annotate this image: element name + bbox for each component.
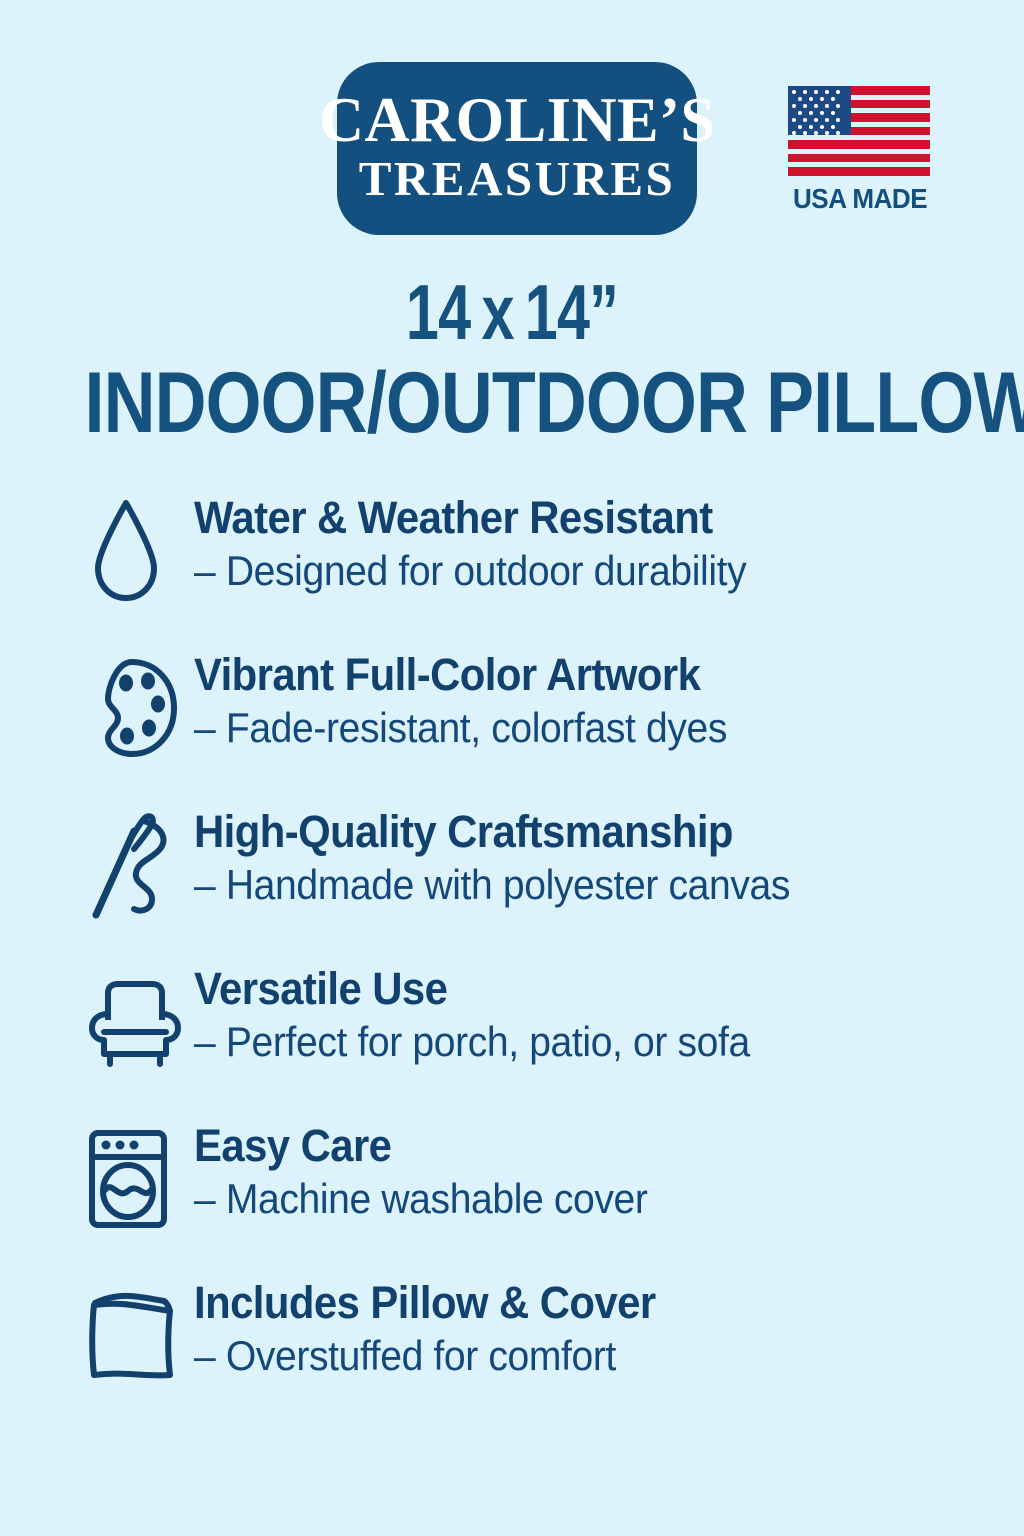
feature-title: Includes Pillow & Cover bbox=[194, 1279, 656, 1326]
armchair-icon bbox=[86, 963, 186, 1075]
feature-text: Vibrant Full-Color Artwork – Fade-resist… bbox=[186, 649, 767, 751]
brand-logo-badge: CAROLINE’S TREASURES bbox=[337, 62, 697, 235]
header: CAROLINE’S TREASURES bbox=[0, 62, 1024, 237]
list-item: High-Quality Craftsmanship – Handmade wi… bbox=[86, 806, 1016, 963]
list-item: Easy Care – Machine washable cover bbox=[86, 1120, 1016, 1277]
brand-name-line2: TREASURES bbox=[359, 151, 676, 207]
feature-title: High-Quality Craftsmanship bbox=[194, 808, 790, 855]
washing-machine-icon bbox=[86, 1120, 186, 1232]
feature-title: Versatile Use bbox=[194, 965, 750, 1012]
size-title: 14 x 14” bbox=[123, 267, 901, 358]
feature-text: High-Quality Craftsmanship – Handmade wi… bbox=[186, 806, 835, 908]
list-item: Water & Weather Resistant – Designed for… bbox=[86, 492, 1016, 649]
water-drop-icon bbox=[86, 492, 186, 604]
feature-title: Water & Weather Resistant bbox=[194, 494, 746, 541]
feature-subtitle: – Perfect for porch, patio, or sofa bbox=[194, 1018, 750, 1065]
feature-title: Easy Care bbox=[194, 1122, 648, 1169]
feature-subtitle: – Fade-resistant, colorfast dyes bbox=[194, 704, 727, 751]
usa-flag-icon bbox=[788, 86, 930, 174]
list-item: Vibrant Full-Color Artwork – Fade-resist… bbox=[86, 649, 1016, 806]
pillow-icon bbox=[86, 1277, 186, 1389]
usa-made-badge: USA MADE bbox=[788, 86, 930, 215]
list-item: Versatile Use – Perfect for porch, patio… bbox=[86, 963, 1016, 1120]
feature-text: Includes Pillow & Cover – Overstuffed fo… bbox=[186, 1277, 690, 1379]
feature-title: Vibrant Full-Color Artwork bbox=[194, 651, 727, 698]
flag-canton bbox=[788, 86, 851, 135]
feature-subtitle: – Handmade with polyester canvas bbox=[194, 861, 790, 908]
feature-subtitle: – Machine washable cover bbox=[194, 1175, 648, 1222]
feature-text: Easy Care – Machine washable cover bbox=[186, 1120, 682, 1222]
feature-subtitle: – Overstuffed for comfort bbox=[194, 1332, 656, 1379]
brand-name-line1: CAROLINE’S bbox=[319, 90, 716, 150]
feature-subtitle: – Designed for outdoor durability bbox=[194, 547, 746, 594]
list-item: Includes Pillow & Cover – Overstuffed fo… bbox=[86, 1277, 1016, 1434]
usa-made-label: USA MADE bbox=[793, 183, 925, 215]
paint-palette-icon bbox=[86, 649, 186, 761]
page-title: INDOOR/OUTDOOR PILLOW bbox=[84, 354, 939, 453]
feature-text: Water & Weather Resistant – Designed for… bbox=[186, 492, 788, 594]
feature-text: Versatile Use – Perfect for porch, patio… bbox=[186, 963, 792, 1065]
needle-and-thread-icon bbox=[86, 806, 186, 918]
feature-list: Water & Weather Resistant – Designed for… bbox=[86, 492, 1016, 1434]
